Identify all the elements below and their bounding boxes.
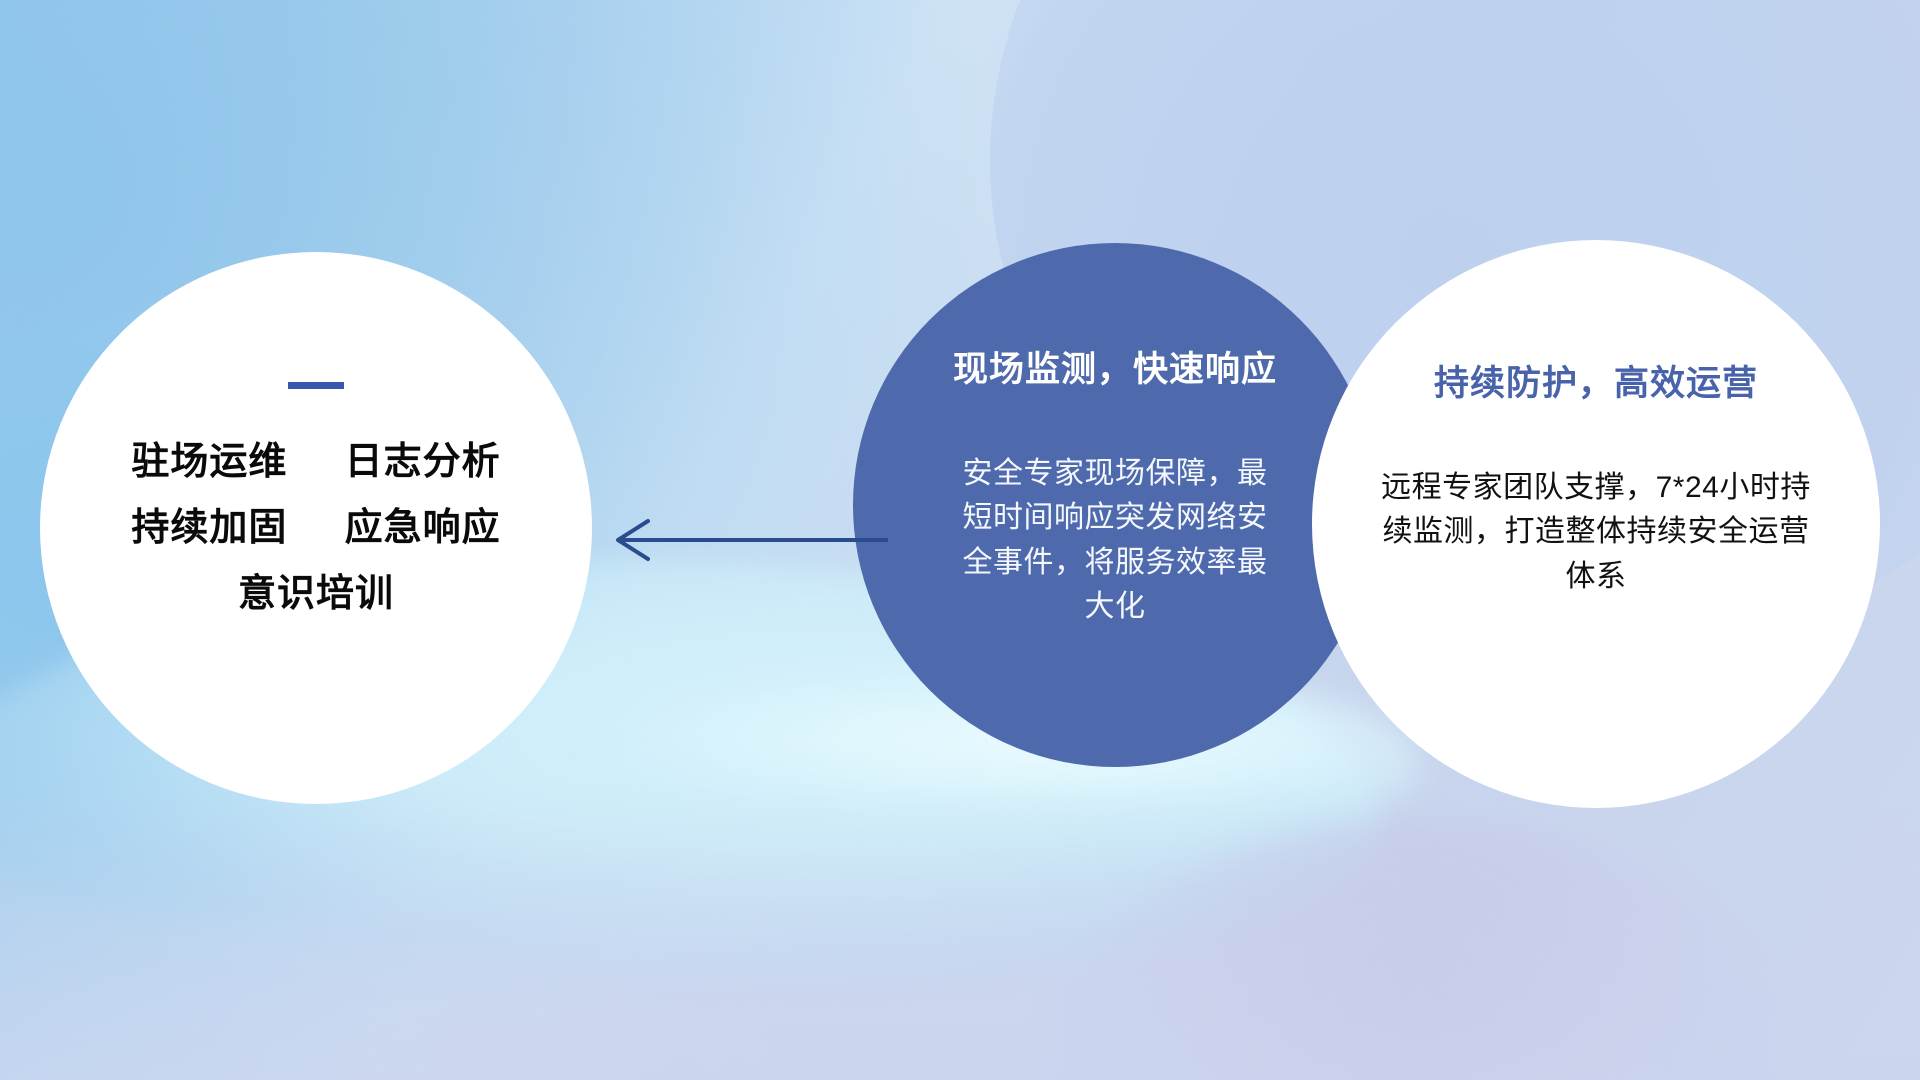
capability-circle-right: 持续防护，高效运营 远程专家团队支撑，7*24小时持续监测，打造整体持续安全运营…: [1312, 240, 1880, 808]
capability-item: 意识培训: [238, 573, 394, 615]
circle-body-right: 远程专家团队支撑，7*24小时持续监测，打造整体持续安全运营体系: [1381, 466, 1811, 599]
capability-row: 意识培训: [131, 575, 500, 613]
background-bottom-fade: [0, 780, 1920, 1080]
capability-circle-middle: 现场监测，快速响应 安全专家现场保障，最短时间响应突发网络安全事件，将服务效率最…: [853, 243, 1377, 767]
circle-title-right: 持续防护，高效运营: [1434, 355, 1758, 406]
capability-item: 应急响应: [345, 507, 501, 549]
capability-list: 驻场运维 日志分析 持续加固 应急响应 意识培训: [131, 443, 500, 613]
circle-body-middle: 安全专家现场保障，最短时间响应突发网络安全事件，将服务效率最大化: [950, 452, 1280, 630]
capability-row: 驻场运维 日志分析: [131, 443, 500, 481]
capability-row: 持续加固 应急响应: [131, 509, 500, 547]
divider-dash: [288, 382, 344, 389]
flow-arrow-icon: [600, 505, 890, 575]
circle-title-middle: 现场监测，快速响应: [953, 341, 1277, 392]
capability-circle-left: 驻场运维 日志分析 持续加固 应急响应 意识培训: [40, 252, 592, 804]
capability-item: 驻场运维: [131, 441, 287, 483]
slide-canvas: 驻场运维 日志分析 持续加固 应急响应 意识培训 现场监测，快速响应 安全专家现…: [0, 0, 1920, 1080]
capability-item: 持续加固: [131, 507, 287, 549]
capability-item: 日志分析: [345, 441, 501, 483]
